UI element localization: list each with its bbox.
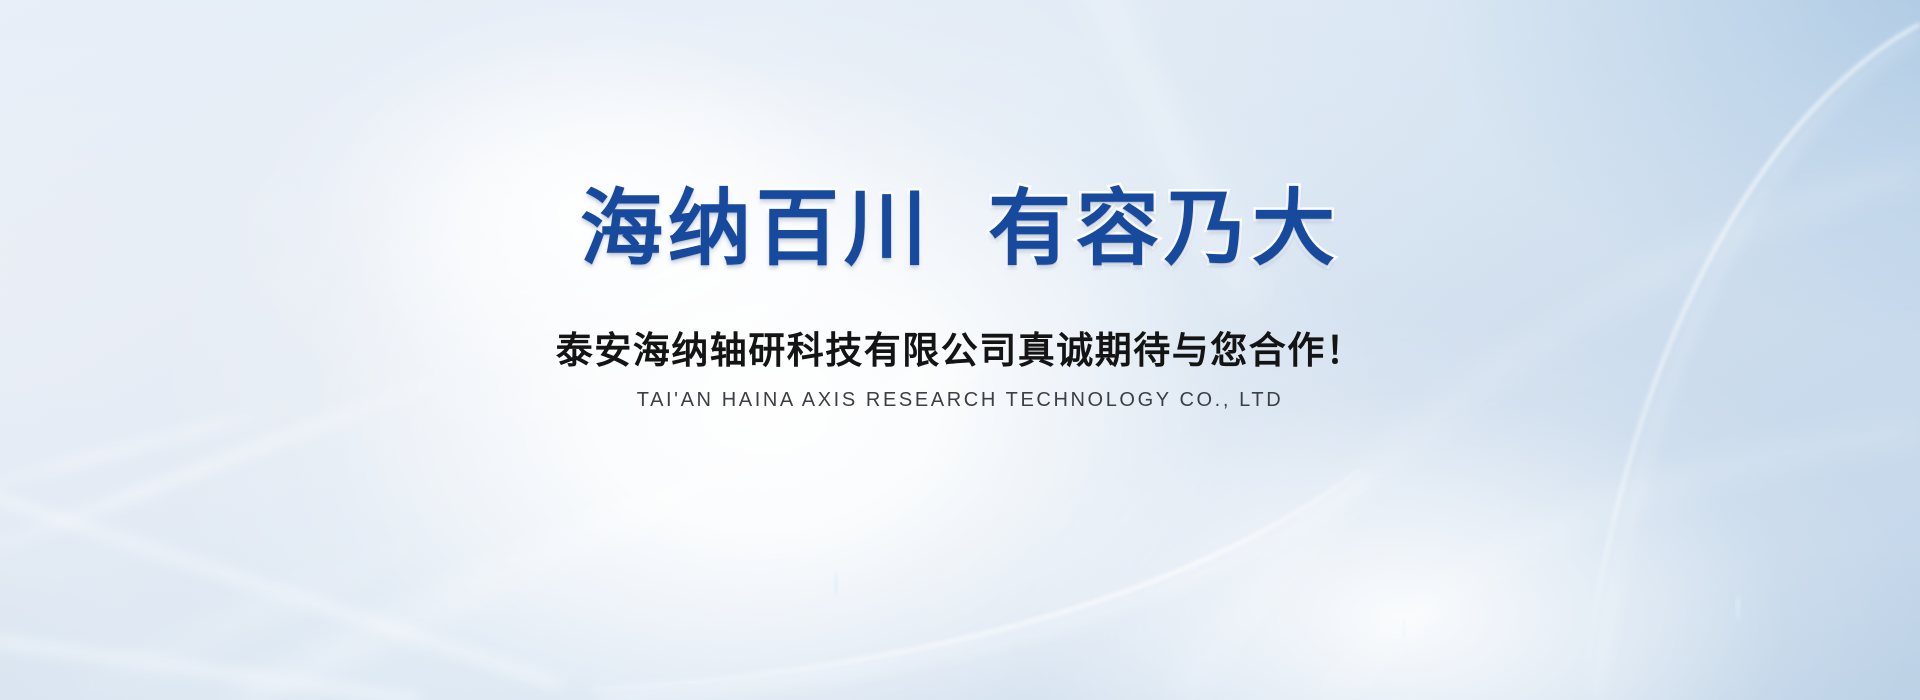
banner-content: 海纳百川 有容乃大 泰安海纳轴研科技有限公司真诚期待与您合作！ TAI'AN H… — [0, 0, 1920, 700]
hero-banner: 海纳百川 有容乃大 泰安海纳轴研科技有限公司真诚期待与您合作！ TAI'AN H… — [0, 0, 1920, 700]
company-tagline-cn: 泰安海纳轴研科技有限公司真诚期待与您合作！ — [556, 329, 1365, 373]
company-name-en: TAI'AN HAINA AXIS RESEARCH TECHNOLOGY CO… — [637, 388, 1284, 412]
headline-slogan: 海纳百川 有容乃大 — [580, 186, 1340, 272]
